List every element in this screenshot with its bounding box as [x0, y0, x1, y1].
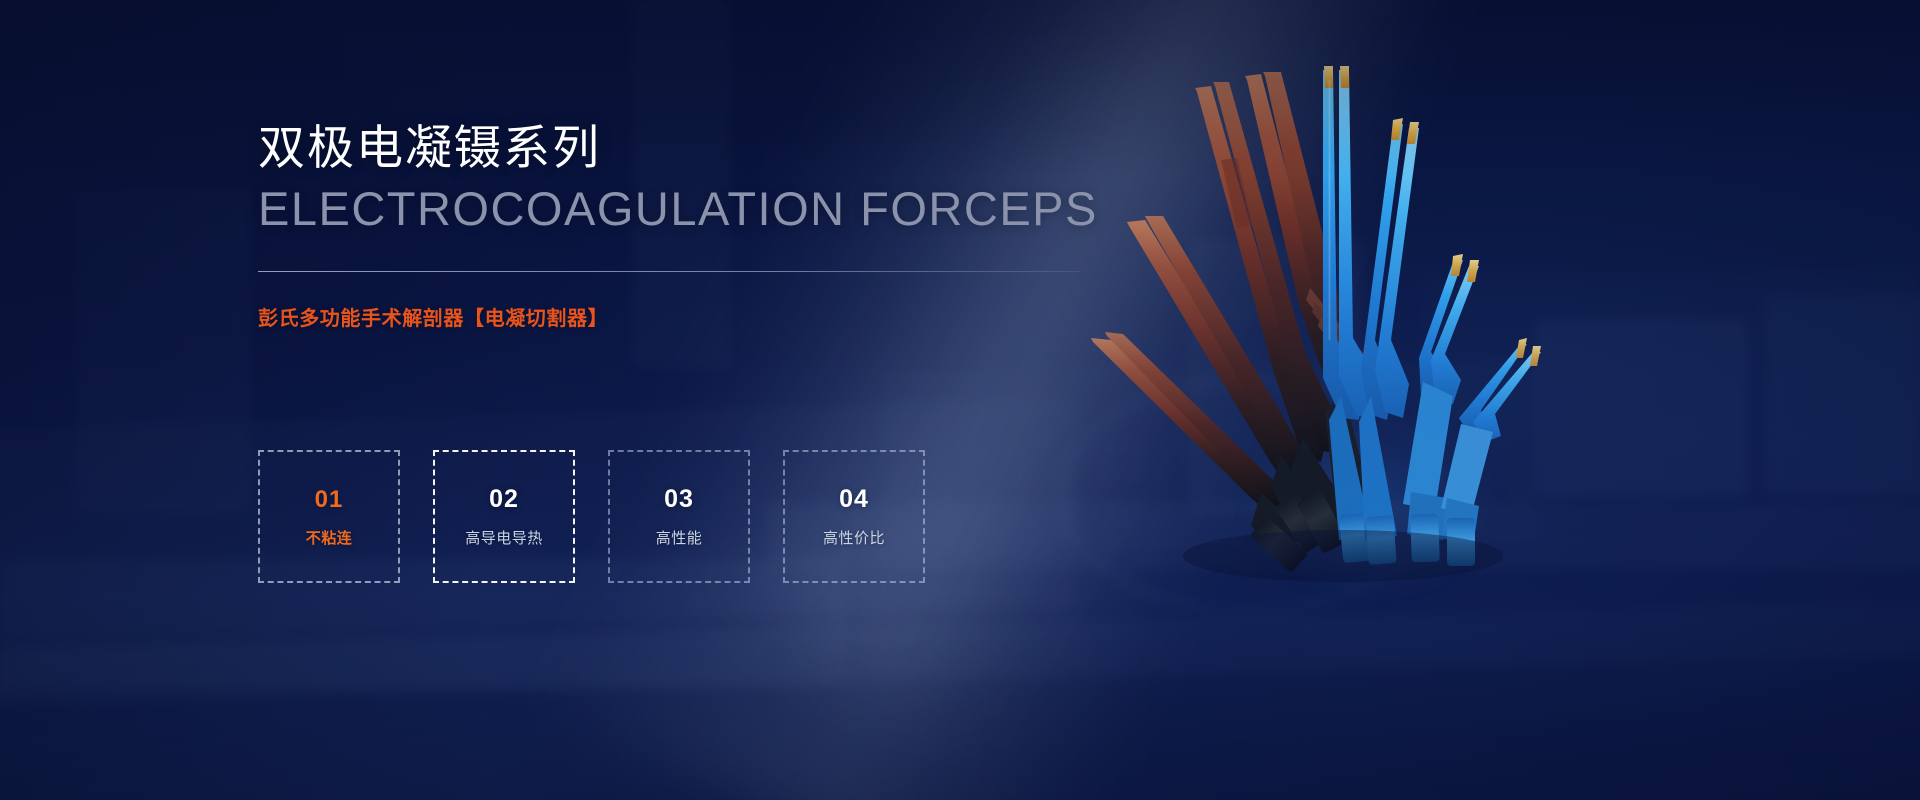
product-tagline: 彭氏多功能手术解剖器【电凝切割器】	[258, 302, 1258, 331]
feature-label: 高性价比	[823, 527, 885, 548]
feature-label: 不粘连	[306, 527, 353, 548]
feature-box-01[interactable]: 01 不粘连	[258, 450, 400, 583]
feature-number: 03	[664, 485, 694, 514]
page-title: 双极电凝镊系列	[258, 120, 1258, 175]
page-subtitle-en: ELECTROCOAGULATION FORCEPS	[258, 183, 1258, 235]
feature-box-04[interactable]: 04 高性价比	[783, 450, 925, 583]
feature-box-03[interactable]: 03 高性能	[608, 450, 750, 583]
feature-box-02[interactable]: 02 高导电导热	[433, 450, 575, 583]
feature-number: 01	[315, 486, 344, 514]
feature-number: 02	[489, 485, 519, 514]
banner-stage: 双极电凝镊系列 ELECTROCOAGULATION FORCEPS 彭氏多功能…	[0, 0, 1920, 800]
feature-label: 高性能	[656, 527, 703, 548]
feature-box-list: 01 不粘连 02 高导电导热 03 高性能 04 高性价比	[258, 450, 925, 583]
divider	[258, 271, 1080, 272]
banner-text-block: 双极电凝镊系列 ELECTROCOAGULATION FORCEPS 彭氏多功能…	[258, 120, 1258, 331]
feature-number: 04	[839, 485, 869, 514]
feature-label: 高导电导热	[465, 527, 543, 548]
